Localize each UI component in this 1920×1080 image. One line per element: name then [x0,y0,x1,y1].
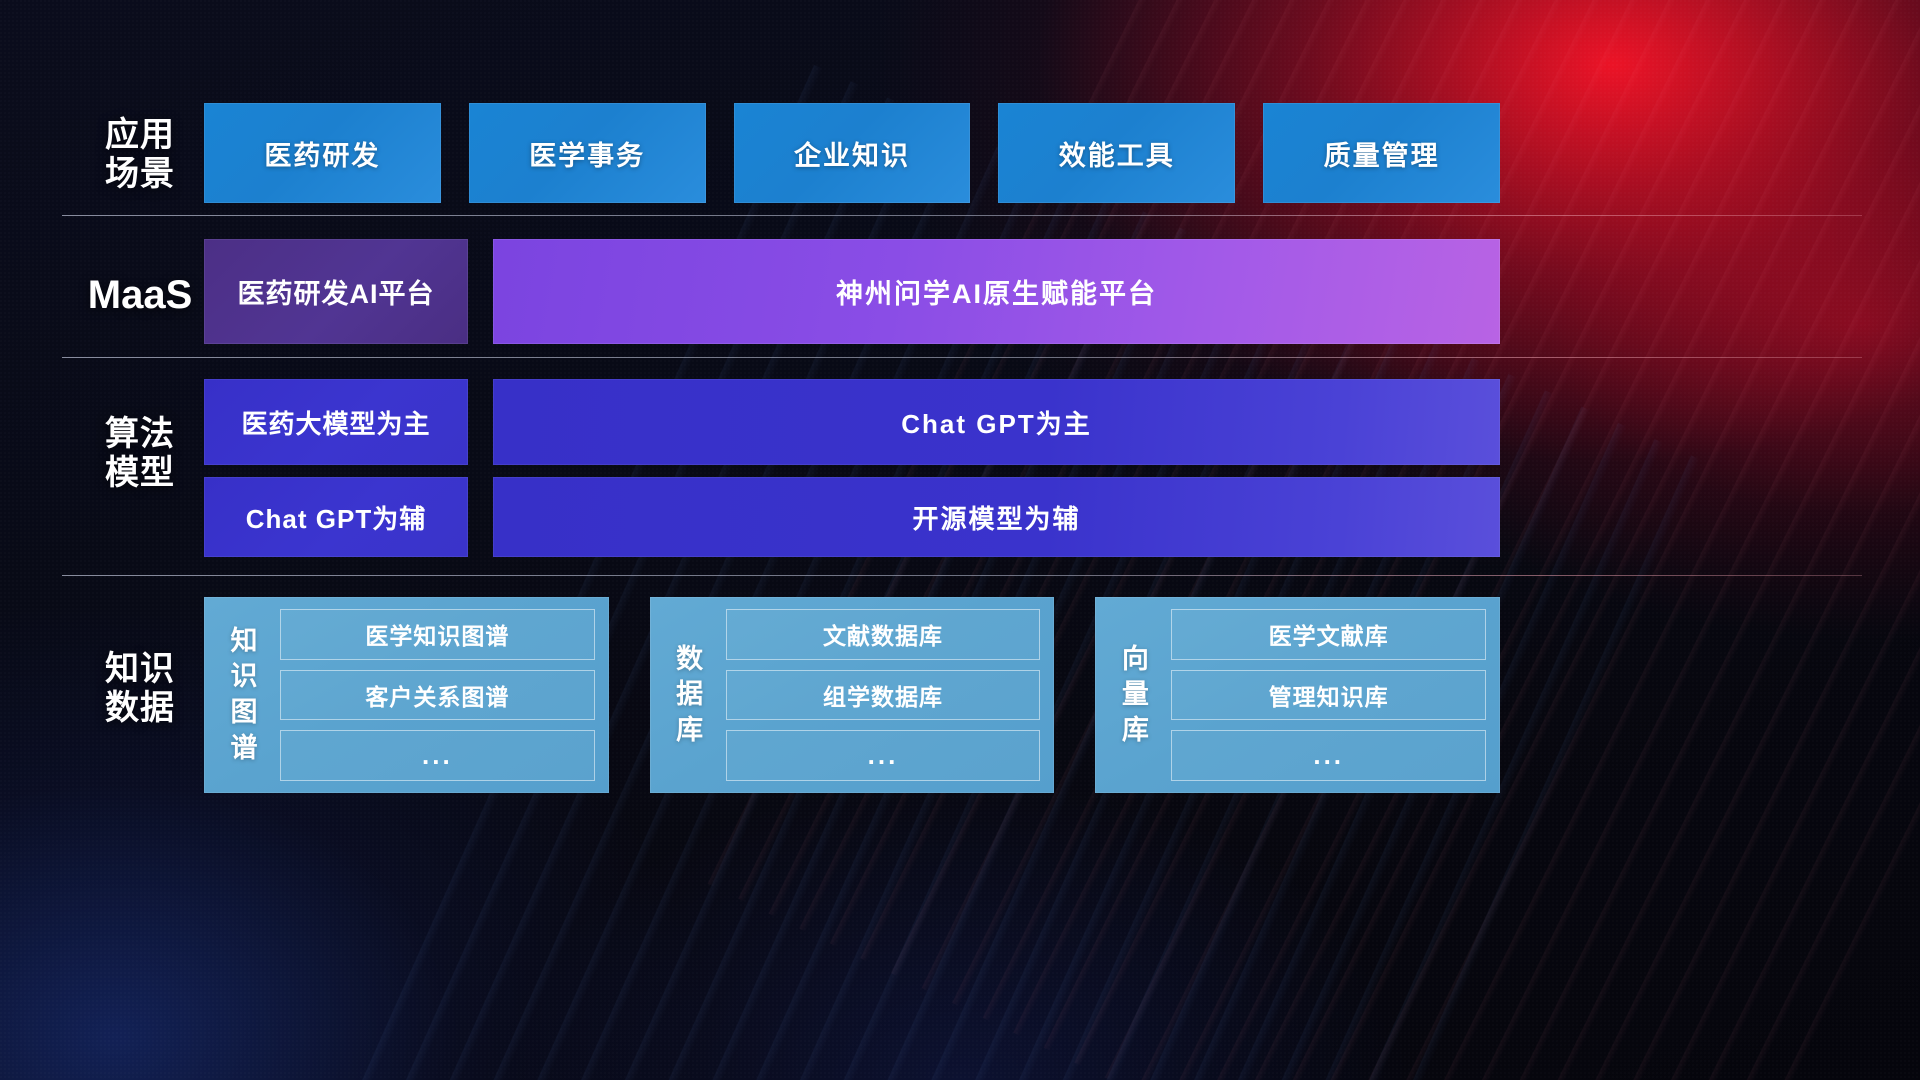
algorithm-card-primary-left[interactable]: 医药大模型为主 [204,379,468,465]
divider-algorithm-knowledge [62,575,1862,576]
knowledge-panels-row: 知识图谱 医学知识图谱 客户关系图谱 ... 数据库 文献数据库 组学数据库 .… [204,597,1500,793]
knowledge-item-1-1[interactable]: 组学数据库 [726,670,1041,721]
application-card-1[interactable]: 医学事务 [469,103,706,203]
algorithm-card-secondary-left[interactable]: Chat GPT为辅 [204,477,468,557]
application-card-4[interactable]: 质量管理 [1263,103,1500,203]
algorithm-row-primary: 医药大模型为主 Chat GPT为主 [204,379,1500,465]
divider-maas-algorithm [62,357,1862,358]
application-card-3[interactable]: 效能工具 [998,103,1235,203]
knowledge-panel-vector-store[interactable]: 向量库 医学文献库 管理知识库 ... [1095,597,1500,793]
maas-row: 医药研发AI平台 神州问学AI原生赋能平台 [204,239,1500,344]
knowledge-panel-database[interactable]: 数据库 文献数据库 组学数据库 ... [650,597,1055,793]
knowledge-panel-title-0: 知识图谱 [222,624,266,767]
knowledge-items-0: 医学知识图谱 客户关系图谱 ... [280,609,595,781]
knowledge-items-1: 文献数据库 组学数据库 ... [726,609,1041,781]
knowledge-panel-knowledge-graph[interactable]: 知识图谱 医学知识图谱 客户关系图谱 ... [204,597,609,793]
algorithm-card-primary-right[interactable]: Chat GPT为主 [493,379,1500,465]
knowledge-item-0-0[interactable]: 医学知识图谱 [280,609,595,660]
diagram-content: 应用场景 医药研发 医学事务 企业知识 效能工具 质量管理 MaaS 医药研发A… [0,0,1920,1080]
row-label-application: 应用场景 [80,116,200,194]
maas-card-shenzhou-wenxue-platform[interactable]: 神州问学AI原生赋能平台 [493,239,1500,344]
maas-card-pharma-ai-platform[interactable]: 医药研发AI平台 [204,239,468,344]
application-cards-row: 医药研发 医学事务 企业知识 效能工具 质量管理 [204,103,1500,203]
row-label-maas: MaaS [80,273,200,319]
knowledge-item-2-1[interactable]: 管理知识库 [1171,670,1486,721]
slide-canvas: 应用场景 医药研发 医学事务 企业知识 效能工具 质量管理 MaaS 医药研发A… [0,0,1920,1080]
knowledge-panel-title-1: 数据库 [668,642,712,749]
knowledge-items-2: 医学文献库 管理知识库 ... [1171,609,1486,781]
knowledge-item-2-2[interactable]: ... [1171,730,1486,781]
row-label-knowledge: 知识数据 [80,650,200,728]
algorithm-row-secondary: Chat GPT为辅 开源模型为辅 [204,477,1500,557]
knowledge-item-1-2[interactable]: ... [726,730,1041,781]
application-card-2[interactable]: 企业知识 [734,103,971,203]
knowledge-item-0-1[interactable]: 客户关系图谱 [280,670,595,721]
divider-application-maas [62,215,1862,216]
knowledge-item-2-0[interactable]: 医学文献库 [1171,609,1486,660]
knowledge-item-1-0[interactable]: 文献数据库 [726,609,1041,660]
row-label-algorithm: 算法模型 [80,415,200,493]
knowledge-item-0-2[interactable]: ... [280,730,595,781]
algorithm-card-secondary-right[interactable]: 开源模型为辅 [493,477,1500,557]
knowledge-panel-title-2: 向量库 [1113,642,1157,749]
application-card-0[interactable]: 医药研发 [204,103,441,203]
